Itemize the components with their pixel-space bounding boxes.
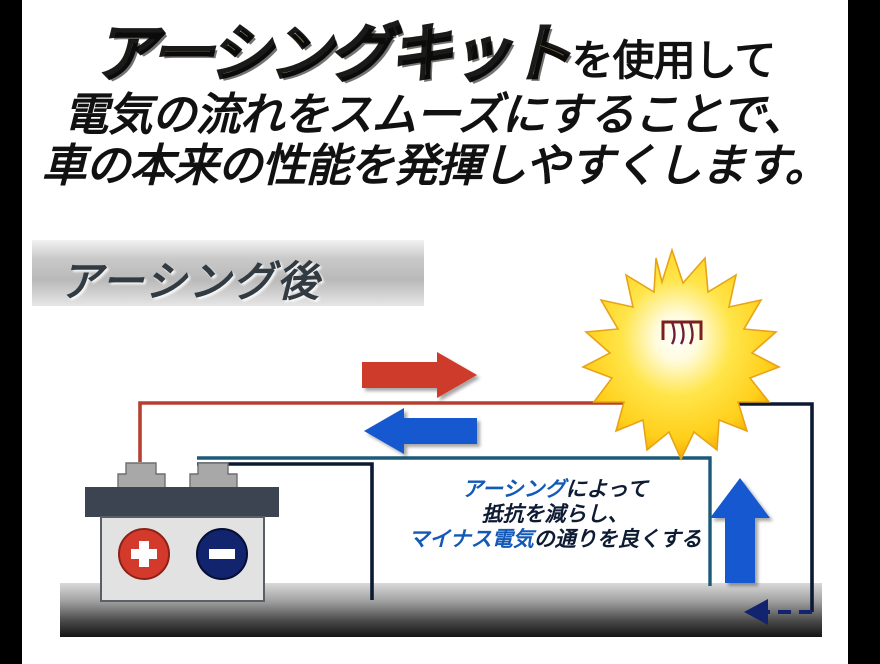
current-flow-arrow-left [364,408,477,454]
plus-icon-horizontal [131,549,157,559]
caption-line-2: 抵抗を減らし、 [390,503,720,528]
caption-line3-rest: の通りを良くする [534,528,702,551]
caption-block: アーシングによって 抵抗を減らし、 マイナス電気の通りを良くする [390,478,720,552]
caption-line-3: マイナス電気の通りを良くする [390,528,720,553]
light-bulb-glow [583,250,779,459]
caption-line-1: アーシングによって [390,478,720,503]
poster-root: アーシングキットを使用して 電気の流れをスムーズにすることで、 車の本来の性能を… [0,0,880,664]
caption-line3-accent: マイナス電気 [408,528,534,551]
minus-icon [209,549,235,559]
circuit-diagram [22,0,848,664]
battery-terminal-positive [118,463,165,488]
caption-line1-rest: によって [566,478,648,501]
right-black-bar [848,0,880,664]
burst-shape [583,250,779,459]
caption-line1-accent: アーシング [462,478,565,501]
left-black-bar [0,0,22,664]
battery-terminal-negative [190,463,237,488]
battery [85,463,279,601]
battery-top [85,487,279,517]
poster-page: アーシングキットを使用して 電気の流れをスムーズにすることで、 車の本来の性能を… [22,0,848,664]
current-flow-arrow-right [362,352,477,398]
